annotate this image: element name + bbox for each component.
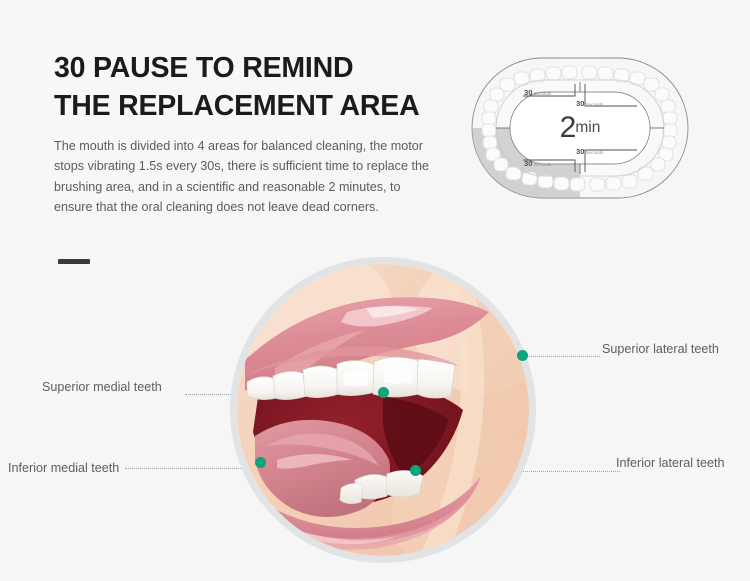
quadrant-label-top-right: 30Seconds (576, 100, 603, 108)
callout-inferior-lateral-teeth: Inferior lateral teeth (616, 456, 725, 470)
timer-diagram: 2 min 30Seconds 30Seconds 30Seconds 30Se… (470, 56, 690, 200)
page-title-line-2: THE REPLACEMENT AREA (54, 88, 454, 126)
marker-inferior-medial-edge[interactable] (255, 457, 266, 468)
page-title-line-1: 30 PAUSE TO REMIND (54, 50, 454, 88)
description-paragraph: The mouth is divided into 4 areas for ba… (54, 136, 434, 218)
mouth-photo-illustration (237, 264, 529, 556)
quadrant-label-bottom-left: 30Seconds (524, 160, 551, 168)
mouth-photo (237, 264, 529, 556)
quadrant-label-bottom-right: 30Seconds (576, 148, 603, 156)
product-info-page: 30 PAUSE TO REMIND THE REPLACEMENT AREA … (0, 0, 750, 581)
page-title: 30 PAUSE TO REMIND THE REPLACEMENT AREA (54, 50, 454, 125)
leader-line-inferior-medial (125, 468, 267, 469)
callout-superior-lateral-teeth: Superior lateral teeth (602, 342, 719, 356)
marker-inferior-lateral[interactable] (410, 465, 421, 476)
marker-superior-lateral-edge[interactable] (517, 350, 528, 361)
callout-inferior-medial-teeth: Inferior medial teeth (8, 461, 119, 475)
timer-diagram-graphic (470, 56, 690, 200)
callout-superior-medial-teeth: Superior medial teeth (42, 380, 162, 394)
quadrant-label-top-left: 30Seconds (524, 89, 551, 97)
marker-superior-medial[interactable] (378, 387, 389, 398)
section-divider (58, 259, 90, 264)
